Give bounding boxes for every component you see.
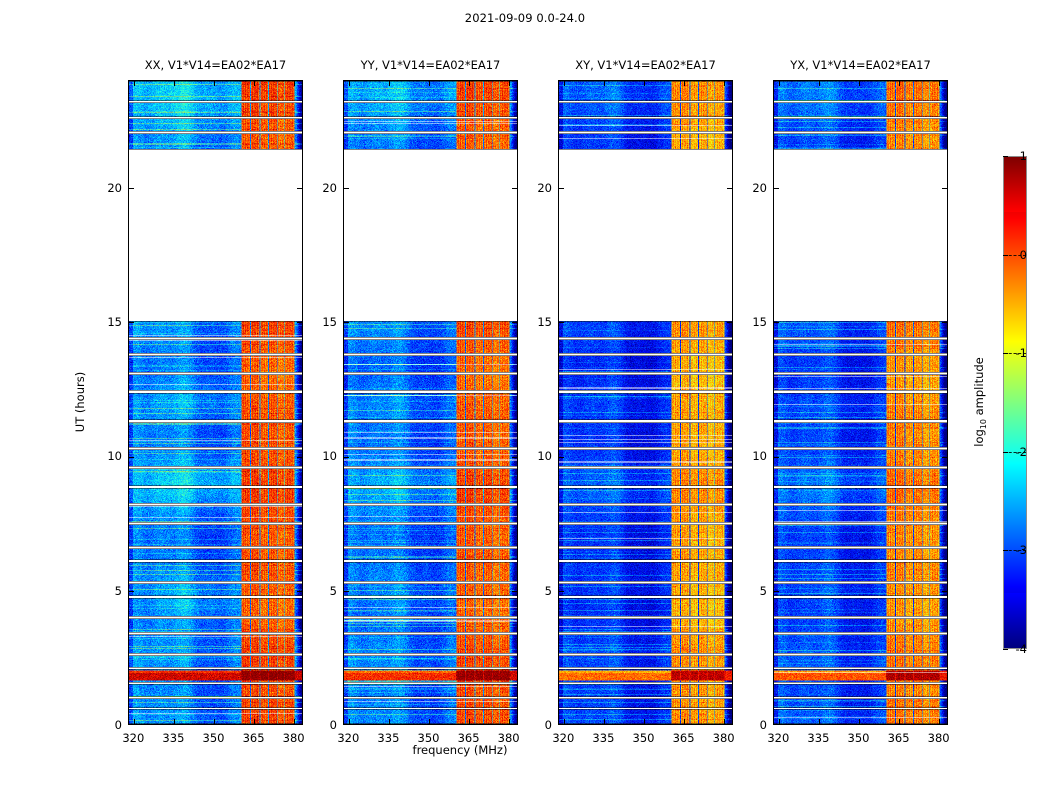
- y-tick-20: [727, 188, 732, 189]
- y-tick-10: [942, 457, 947, 458]
- x-tick-320: [349, 719, 350, 724]
- x-tick-label-365: 365: [243, 731, 265, 745]
- y-tick-label-0: 0: [94, 718, 122, 732]
- waterfall-plot-area: [774, 81, 947, 724]
- colorbar-tick-label: -1: [1016, 346, 1027, 360]
- y-tick-label-15: 15: [524, 315, 552, 329]
- x-tick-365: [254, 81, 255, 86]
- x-tick-380: [294, 719, 295, 724]
- y-tick-label-0: 0: [524, 718, 552, 732]
- x-tick-label-350: 350: [633, 731, 655, 745]
- x-tick-350: [429, 81, 430, 86]
- x-tick-365: [899, 719, 900, 724]
- x-tick-365: [254, 719, 255, 724]
- spectrum-panel-xy[interactable]: [558, 80, 733, 725]
- waterfall-image-xy: [559, 81, 732, 724]
- y-axis-label: UT (hours): [73, 372, 87, 432]
- x-tick-350: [644, 81, 645, 86]
- x-tick-335: [174, 81, 175, 86]
- y-tick-15: [129, 322, 134, 323]
- y-tick-label-20: 20: [94, 181, 122, 195]
- colorbar-tick-label: -3: [1016, 543, 1027, 557]
- y-tick-label-20: 20: [309, 181, 337, 195]
- x-tick-label-365: 365: [888, 731, 910, 745]
- y-tick-label-10: 10: [524, 449, 552, 463]
- colorbar-tick-mark: [1003, 156, 1008, 157]
- x-tick-350: [859, 81, 860, 86]
- x-tick-label-365: 365: [458, 731, 480, 745]
- spectrum-panel-xx[interactable]: [128, 80, 303, 725]
- y-tick-20: [774, 188, 779, 189]
- y-tick-10: [774, 457, 779, 458]
- colorbar-tick-label: -2: [1016, 445, 1027, 459]
- colorbar-gradient: [1004, 157, 1026, 648]
- x-tick-320: [134, 719, 135, 724]
- y-tick-15: [942, 322, 947, 323]
- y-tick-5: [344, 591, 349, 592]
- x-tick-365: [469, 81, 470, 86]
- x-tick-335: [604, 81, 605, 86]
- y-tick-20: [942, 188, 947, 189]
- y-tick-label-15: 15: [94, 315, 122, 329]
- y-tick-20: [129, 188, 134, 189]
- y-tick-label-20: 20: [524, 181, 552, 195]
- spectrum-panel-yy[interactable]: [343, 80, 518, 725]
- x-tick-label-350: 350: [418, 731, 440, 745]
- y-tick-5: [774, 591, 779, 592]
- y-tick-5: [727, 591, 732, 592]
- x-tick-365: [469, 719, 470, 724]
- colorbar: [1003, 156, 1027, 649]
- x-tick-380: [509, 719, 510, 724]
- panel-title-xx: XX, V1*V14=EA02*EA17: [128, 58, 303, 72]
- x-tick-335: [389, 719, 390, 724]
- x-tick-label-320: 320: [552, 731, 574, 745]
- y-tick-label-5: 5: [524, 584, 552, 598]
- y-tick-5: [297, 591, 302, 592]
- y-tick-10: [344, 457, 349, 458]
- colorbar-tick-label: -4: [1016, 642, 1027, 656]
- y-tick-5: [129, 591, 134, 592]
- y-tick-label-10: 10: [739, 449, 767, 463]
- x-tick-365: [899, 81, 900, 86]
- y-tick-10: [559, 457, 564, 458]
- y-tick-15: [727, 322, 732, 323]
- y-tick-20: [344, 188, 349, 189]
- x-tick-label-350: 350: [203, 731, 225, 745]
- figure-title: 2021-09-09 0.0-24.0: [0, 11, 1050, 25]
- y-tick-label-10: 10: [94, 449, 122, 463]
- x-tick-335: [819, 81, 820, 86]
- y-tick-label-5: 5: [739, 584, 767, 598]
- y-tick-label-15: 15: [309, 315, 337, 329]
- x-tick-label-335: 335: [592, 731, 614, 745]
- spectrum-panel-yx[interactable]: [773, 80, 948, 725]
- x-tick-label-335: 335: [377, 731, 399, 745]
- y-tick-label-10: 10: [309, 449, 337, 463]
- colorbar-tick-label: 1: [1020, 149, 1027, 163]
- panel-title-yx: YX, V1*V14=EA02*EA17: [773, 58, 948, 72]
- colorbar-tick-mark: [1003, 550, 1008, 551]
- colorbar-tick-label: 0: [1020, 248, 1027, 262]
- x-tick-380: [724, 81, 725, 86]
- colorbar-label-tail: amplitude: [972, 357, 986, 419]
- x-tick-350: [859, 719, 860, 724]
- x-tick-320: [779, 719, 780, 724]
- waterfall-plot-area: [129, 81, 302, 724]
- x-tick-335: [389, 81, 390, 86]
- y-tick-label-5: 5: [94, 584, 122, 598]
- x-tick-label-350: 350: [848, 731, 870, 745]
- x-tick-380: [939, 81, 940, 86]
- x-tick-320: [779, 81, 780, 86]
- colorbar-label-sub: 10: [979, 419, 988, 429]
- x-tick-label-320: 320: [767, 731, 789, 745]
- x-tick-label-320: 320: [122, 731, 144, 745]
- y-tick-label-0: 0: [739, 718, 767, 732]
- y-tick-10: [512, 457, 517, 458]
- x-tick-label-335: 335: [807, 731, 829, 745]
- y-tick-15: [297, 322, 302, 323]
- x-tick-350: [214, 719, 215, 724]
- y-tick-5: [559, 591, 564, 592]
- x-tick-350: [429, 719, 430, 724]
- x-tick-365: [684, 719, 685, 724]
- panel-title-xy: XY, V1*V14=EA02*EA17: [558, 58, 733, 72]
- y-tick-10: [129, 457, 134, 458]
- x-tick-label-380: 380: [283, 731, 305, 745]
- x-tick-label-365: 365: [673, 731, 695, 745]
- x-tick-label-380: 380: [498, 731, 520, 745]
- x-tick-380: [294, 81, 295, 86]
- y-tick-15: [774, 322, 779, 323]
- x-tick-380: [939, 719, 940, 724]
- figure-canvas: 2021-09-09 0.0-24.0 UT (hours) frequency…: [0, 0, 1050, 800]
- x-tick-380: [509, 81, 510, 86]
- x-tick-380: [724, 719, 725, 724]
- x-tick-320: [349, 81, 350, 86]
- x-tick-label-380: 380: [713, 731, 735, 745]
- x-tick-350: [644, 719, 645, 724]
- x-tick-320: [564, 719, 565, 724]
- y-tick-10: [297, 457, 302, 458]
- y-tick-15: [559, 322, 564, 323]
- x-tick-335: [819, 719, 820, 724]
- colorbar-tick-mark: [1003, 353, 1008, 354]
- waterfall-plot-area: [559, 81, 732, 724]
- colorbar-label-base: log: [972, 429, 986, 447]
- y-tick-10: [727, 457, 732, 458]
- waterfall-image-xx: [129, 81, 302, 724]
- y-tick-20: [512, 188, 517, 189]
- y-tick-5: [942, 591, 947, 592]
- x-tick-335: [174, 719, 175, 724]
- waterfall-plot-area: [344, 81, 517, 724]
- colorbar-tick-mark: [1003, 649, 1008, 650]
- x-tick-350: [214, 81, 215, 86]
- y-tick-label-15: 15: [739, 315, 767, 329]
- x-tick-label-380: 380: [928, 731, 950, 745]
- y-tick-20: [297, 188, 302, 189]
- waterfall-image-yy: [344, 81, 517, 724]
- waterfall-image-yx: [774, 81, 947, 724]
- y-tick-label-0: 0: [309, 718, 337, 732]
- y-tick-20: [559, 188, 564, 189]
- x-tick-365: [684, 81, 685, 86]
- colorbar-tick-mark: [1003, 255, 1008, 256]
- y-tick-label-5: 5: [309, 584, 337, 598]
- y-tick-15: [344, 322, 349, 323]
- colorbar-label: log10 amplitude: [972, 357, 988, 447]
- colorbar-tick-mark: [1003, 452, 1008, 453]
- x-tick-320: [134, 81, 135, 86]
- y-tick-5: [512, 591, 517, 592]
- y-tick-15: [512, 322, 517, 323]
- x-tick-label-335: 335: [162, 731, 184, 745]
- x-axis-label: frequency (MHz): [0, 743, 920, 757]
- y-tick-label-20: 20: [739, 181, 767, 195]
- x-tick-label-320: 320: [337, 731, 359, 745]
- panel-title-yy: YY, V1*V14=EA02*EA17: [343, 58, 518, 72]
- x-tick-320: [564, 81, 565, 86]
- x-tick-335: [604, 719, 605, 724]
